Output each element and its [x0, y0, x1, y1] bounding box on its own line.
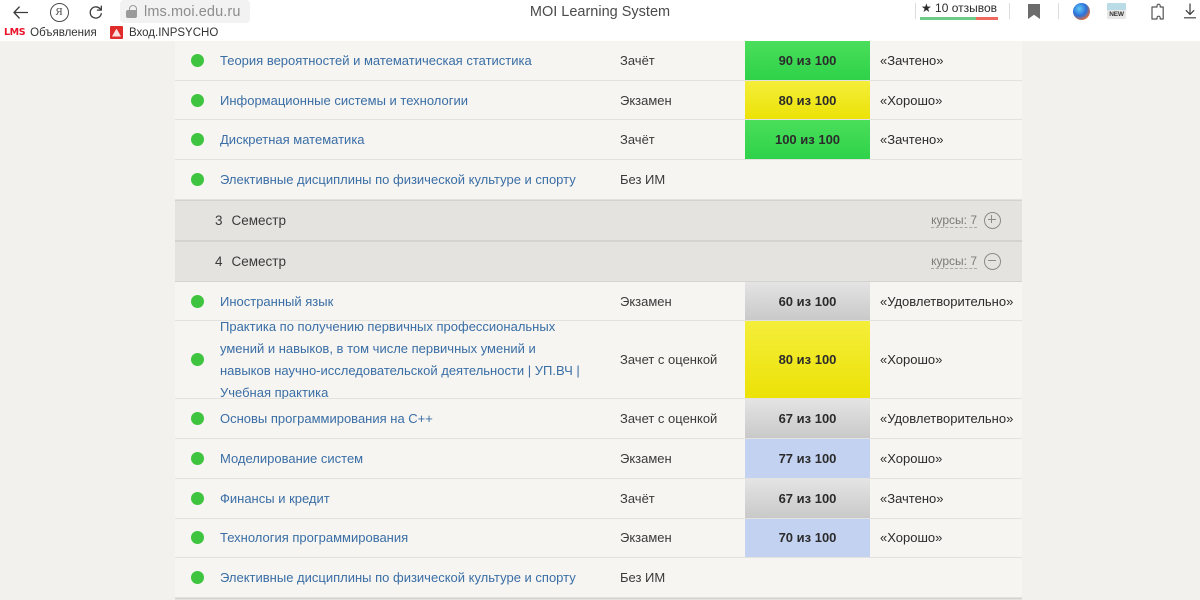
- browser-toolbar: Я lms.moi.edu.ru MOI Learning System ★ 1…: [0, 0, 1200, 24]
- course-name-cell: Теория вероятностей и математическая ста…: [220, 41, 620, 80]
- toolbar-divider: [1058, 3, 1059, 19]
- status-dot-icon: [191, 173, 204, 186]
- extensions-puzzle-icon[interactable]: [1149, 3, 1167, 20]
- course-mark-cell: «Зачтено»: [870, 479, 1022, 518]
- status-dot-icon: [191, 353, 204, 366]
- course-status-cell: [175, 399, 220, 438]
- course-score-cell: 80 из 100: [745, 321, 870, 398]
- status-dot-icon: [191, 492, 204, 505]
- course-mark-cell: «Зачтено»: [870, 41, 1022, 80]
- course-score-cell: 70 из 100: [745, 519, 870, 558]
- course-name-link[interactable]: Технология программирования: [220, 528, 408, 547]
- course-mark-cell: «Хорошо»: [870, 81, 1022, 120]
- course-score-cell: 100 из 100: [745, 120, 870, 159]
- course-score-cell: [745, 558, 870, 597]
- course-status-cell: [175, 282, 220, 321]
- status-dot-icon: [191, 452, 204, 465]
- expand-semester-icon[interactable]: [984, 212, 1001, 229]
- course-status-cell: [175, 479, 220, 518]
- bookmark-item-inpsycho[interactable]: Вход.INPSYCHO: [110, 24, 218, 41]
- course-name-cell: Иностранный язык: [220, 282, 620, 321]
- new-badge-icon[interactable]: NEW: [1107, 3, 1126, 19]
- course-mark-cell: «Хорошо»: [870, 519, 1022, 558]
- inpsycho-icon: [110, 26, 123, 39]
- course-type-cell: Экзамен: [620, 519, 745, 558]
- semester-label: Семестр: [232, 213, 287, 228]
- new-badge-text: NEW: [1107, 10, 1126, 19]
- course-name-cell: Технология программирования: [220, 519, 620, 558]
- semester-label: Семестр: [232, 254, 287, 269]
- course-row[interactable]: Основы программирования на С++Зачет с оц…: [175, 399, 1022, 439]
- course-row[interactable]: Теория вероятностей и математическая ста…: [175, 41, 1022, 81]
- course-score-cell: 60 из 100: [745, 282, 870, 321]
- course-mark-cell: [870, 558, 1022, 597]
- course-row[interactable]: Финансы и кредитЗачёт67 из 100«Зачтено»: [175, 479, 1022, 519]
- course-mark-cell: «Хорошо»: [870, 321, 1022, 398]
- course-type-cell: Зачет с оценкой: [620, 321, 745, 398]
- semester-courses-count[interactable]: курсы: 7: [931, 213, 977, 228]
- semester-courses-count[interactable]: курсы: 7: [931, 254, 977, 269]
- course-name-cell: Дискретная математика: [220, 120, 620, 159]
- course-status-cell: [175, 41, 220, 80]
- semester-number: 3: [215, 213, 223, 228]
- course-score-cell: 77 из 100: [745, 439, 870, 478]
- reviews-rating-bar: [920, 17, 998, 20]
- course-type-cell: Зачёт: [620, 120, 745, 159]
- course-type-cell: Зачёт: [620, 41, 745, 80]
- status-dot-icon: [191, 54, 204, 67]
- course-name-cell: Моделирование систем: [220, 439, 620, 478]
- lms-icon: LMS: [4, 27, 25, 38]
- course-name-link[interactable]: Основы программирования на С++: [220, 409, 433, 428]
- status-dot-icon: [191, 412, 204, 425]
- semester-header-row[interactable]: 4Семестркурсы: 7: [175, 241, 1022, 282]
- bookmark-label: Объявления: [30, 27, 97, 39]
- bookmark-flag-icon[interactable]: [1028, 4, 1040, 19]
- reviews-rating-widget[interactable]: ★ 10 отзывов: [920, 0, 998, 21]
- course-type-cell: Без ИМ: [620, 558, 745, 597]
- course-name-cell: Элективные дисциплины по физической куль…: [220, 160, 620, 199]
- course-status-cell: [175, 321, 220, 398]
- course-row[interactable]: Элективные дисциплины по физической куль…: [175, 160, 1022, 200]
- browser-orb-icon[interactable]: [1073, 3, 1090, 20]
- bookmark-item-announcements[interactable]: LMS Объявления: [4, 24, 97, 41]
- course-row[interactable]: Информационные системы и технологииЭкзам…: [175, 81, 1022, 121]
- course-score-cell: 90 из 100: [745, 41, 870, 80]
- status-dot-icon: [191, 94, 204, 107]
- course-type-cell: Без ИМ: [620, 160, 745, 199]
- course-status-cell: [175, 81, 220, 120]
- course-mark-cell: [870, 160, 1022, 199]
- course-status-cell: [175, 160, 220, 199]
- course-mark-cell: «Удовлетворительно»: [870, 399, 1022, 438]
- course-name-link[interactable]: Дискретная математика: [220, 130, 365, 149]
- course-mark-cell: «Удовлетворительно»: [870, 282, 1022, 321]
- collapse-semester-icon[interactable]: [984, 253, 1001, 270]
- toolbar-divider: [915, 3, 916, 19]
- course-status-cell: [175, 519, 220, 558]
- status-dot-icon: [191, 295, 204, 308]
- browser-chrome: Я lms.moi.edu.ru MOI Learning System ★ 1…: [0, 0, 1200, 41]
- course-name-cell: Практика по получению первичных професси…: [220, 321, 620, 398]
- course-status-cell: [175, 120, 220, 159]
- course-score-cell: 67 из 100: [745, 399, 870, 438]
- course-type-cell: Экзамен: [620, 81, 745, 120]
- course-status-cell: [175, 439, 220, 478]
- course-mark-cell: «Хорошо»: [870, 439, 1022, 478]
- course-type-cell: Зачёт: [620, 479, 745, 518]
- course-row[interactable]: Дискретная математикаЗачёт100 из 100«Зач…: [175, 120, 1022, 160]
- course-name-cell: Финансы и кредит: [220, 479, 620, 518]
- course-name-link[interactable]: Иностранный язык: [220, 292, 333, 311]
- course-row[interactable]: Моделирование системЭкзамен77 из 100«Хор…: [175, 439, 1022, 479]
- course-type-cell: Экзамен: [620, 282, 745, 321]
- course-row[interactable]: Элективные дисциплины по физической куль…: [175, 558, 1022, 598]
- downloads-icon[interactable]: [1183, 3, 1197, 20]
- course-status-cell: [175, 558, 220, 597]
- toolbar-divider: [1009, 3, 1010, 19]
- course-type-cell: Экзамен: [620, 439, 745, 478]
- course-name-link[interactable]: Элективные дисциплины по физической куль…: [220, 568, 576, 587]
- course-name-link[interactable]: Теория вероятностей и математическая ста…: [220, 51, 532, 70]
- course-score-cell: 67 из 100: [745, 479, 870, 518]
- course-name-cell: Элективные дисциплины по физической куль…: [220, 558, 620, 597]
- status-dot-icon: [191, 571, 204, 584]
- reviews-rating-text: ★ 10 отзывов: [921, 2, 997, 15]
- semester-header-row[interactable]: 3Семестркурсы: 7: [175, 200, 1022, 241]
- course-score-cell: [745, 160, 870, 199]
- course-name-link[interactable]: Элективные дисциплины по физической куль…: [220, 170, 576, 189]
- course-name-cell: Основы программирования на С++: [220, 399, 620, 438]
- course-name-link[interactable]: Моделирование систем: [220, 449, 363, 468]
- course-name-link[interactable]: Финансы и кредит: [220, 489, 330, 508]
- page-viewport[interactable]: Теория вероятностей и математическая ста…: [0, 41, 1200, 600]
- course-score-cell: 80 из 100: [745, 81, 870, 120]
- course-name-link[interactable]: Практика по получению первичных професси…: [220, 316, 582, 404]
- course-row[interactable]: Практика по получению первичных професси…: [175, 321, 1022, 399]
- status-dot-icon: [191, 531, 204, 544]
- course-name-link[interactable]: Информационные системы и технологии: [220, 91, 468, 110]
- bookmark-label: Вход.INPSYCHO: [129, 27, 218, 39]
- status-dot-icon: [191, 133, 204, 146]
- course-mark-cell: «Зачтено»: [870, 120, 1022, 159]
- grades-table: Теория вероятностей и математическая ста…: [175, 41, 1022, 600]
- semester-number: 4: [215, 254, 223, 269]
- course-row[interactable]: Технология программированияЭкзамен70 из …: [175, 519, 1022, 559]
- bookmarks-bar: LMS Объявления Вход.INPSYCHO: [0, 24, 1200, 41]
- course-type-cell: Зачет с оценкой: [620, 399, 745, 438]
- page-title: MOI Learning System: [0, 0, 1200, 24]
- course-name-cell: Информационные системы и технологии: [220, 81, 620, 120]
